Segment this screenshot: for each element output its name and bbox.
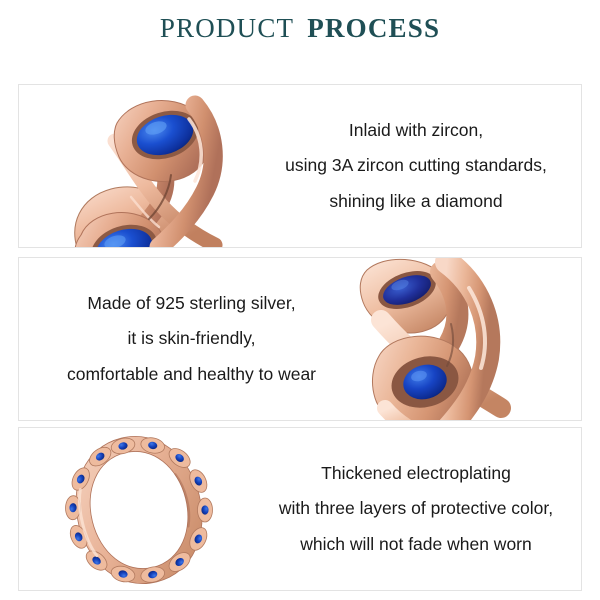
feature-panel-zircon: Inlaid with zircon, using 3A zircon cutt… — [18, 84, 582, 248]
feature-text-line: with three layers of protective color, — [279, 491, 553, 527]
page-title-word-process: PROCESS — [307, 13, 440, 43]
ring-full-view-eternity-band-image — [19, 428, 259, 590]
feature-panel-sterling-silver: Made of 925 sterling silver, it is skin-… — [18, 257, 582, 421]
feature-panel-electroplating: Thickened electroplating with three laye… — [18, 427, 582, 591]
feature-text-sterling-silver: Made of 925 sterling silver, it is skin-… — [19, 258, 364, 420]
feature-text-line: Inlaid with zircon, — [349, 113, 483, 149]
feature-text-line: Made of 925 sterling silver, — [87, 286, 295, 322]
feature-text-line: Thickened electroplating — [321, 456, 511, 492]
feature-text-line: which will not fade when worn — [300, 527, 532, 563]
ring-closeup-infinity-twist-with-zircon-image — [19, 85, 249, 247]
ring-closeup-sterling-silver-band-image — [351, 258, 581, 420]
feature-text-line: comfortable and healthy to wear — [67, 357, 316, 393]
page-title: PRODUCTPROCESS — [0, 13, 600, 44]
feature-text-line: it is skin-friendly, — [127, 321, 255, 357]
feature-text-line: using 3A zircon cutting standards, — [285, 148, 547, 184]
feature-text-line: shining like a diamond — [329, 184, 502, 220]
feature-text-zircon: Inlaid with zircon, using 3A zircon cutt… — [251, 85, 581, 247]
feature-text-electroplating: Thickened electroplating with three laye… — [251, 428, 581, 590]
page-title-word-product: PRODUCT — [160, 13, 294, 43]
